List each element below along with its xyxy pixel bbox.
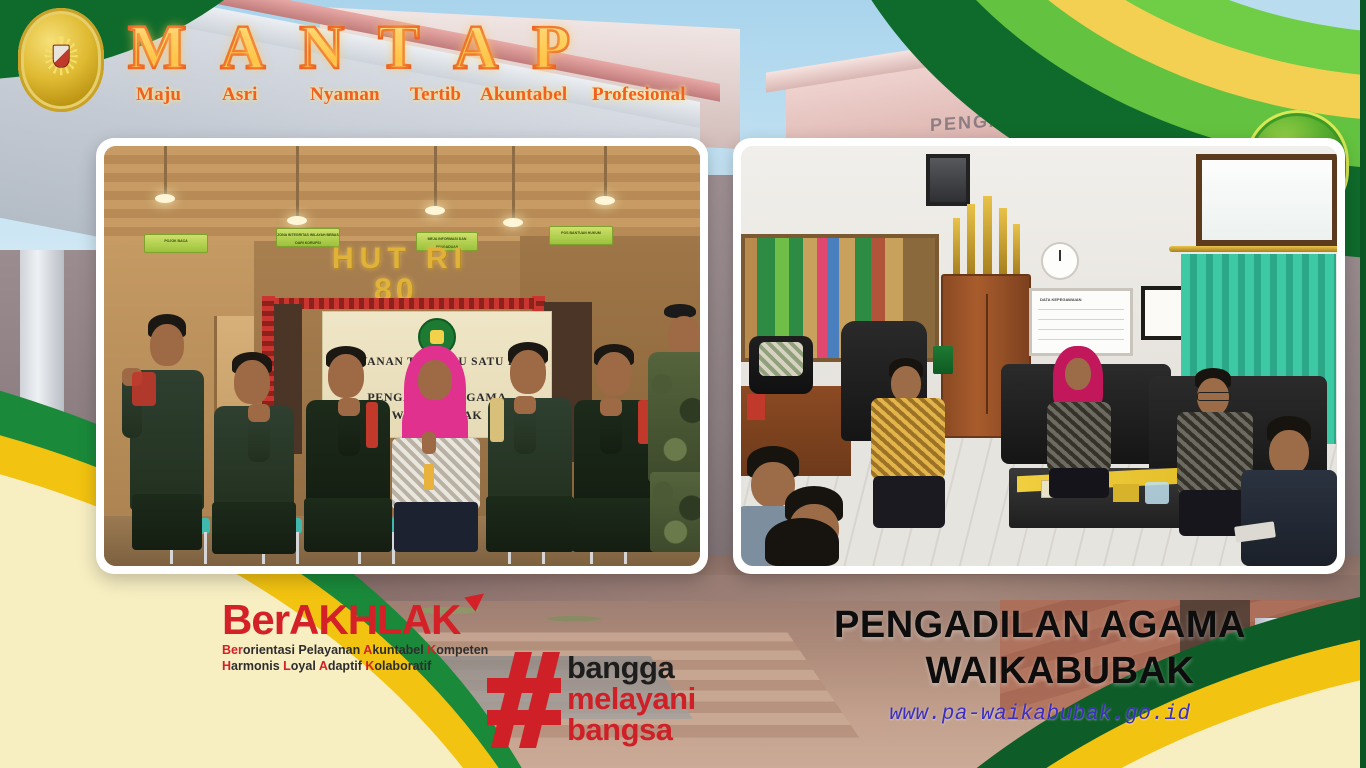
ceiling-sign-label: ZONA INTEGRITAS WILAYAH BEBAS DARI KORUP… (277, 229, 339, 247)
mantap-letter-m: M (128, 17, 187, 79)
mantap-letter-a1: A (221, 17, 266, 79)
person-guest-foreground (1241, 416, 1337, 566)
trophy (999, 208, 1007, 274)
bangga-melayani-bangsa-logo: bangga melayani bangsa (487, 652, 737, 748)
balloon-hut-ri: HUT RI (332, 242, 468, 276)
chair-cushion (759, 342, 803, 376)
bangga-words: bangga melayani bangsa (567, 652, 696, 748)
photo-ptsp-group: POJOK BACA ZONA INTEGRITAS WILAYAH BEBAS… (104, 146, 700, 566)
trophy (1013, 224, 1020, 274)
court-website-url[interactable]: www.pa-waikabubak.go.id (760, 703, 1320, 726)
office-window (1196, 154, 1337, 246)
mantap-letter-t: T (378, 17, 419, 79)
tagline-word-tertib: Tertib (410, 84, 480, 106)
water-bottles (1145, 482, 1169, 504)
court-name-line-2: WAIKABUBAK (760, 648, 1320, 694)
photo-office-meeting: DATA KEPEGAWAIAN (741, 146, 1337, 566)
ceiling-lamp (287, 216, 307, 225)
trophy (953, 218, 960, 274)
bangga-line-2: melayani (567, 683, 696, 714)
ceiling-lamp (425, 206, 445, 215)
person-soldier-camo (646, 304, 700, 552)
mantap-letter-n: N (299, 17, 344, 79)
ceiling-lamp (503, 218, 523, 227)
head (150, 324, 184, 366)
tagline-word-profesional: Profesional (592, 84, 686, 106)
ceiling-sign: POJOK BACA (144, 234, 208, 253)
berakhlak-text: BerAKHLAK (222, 596, 460, 643)
bangga-line-3: bangsa (567, 714, 696, 745)
bangga-line-1: bangga (567, 652, 696, 683)
wall-clock (1041, 242, 1079, 280)
photo-card-right[interactable]: DATA KEPEGAWAIAN (733, 138, 1345, 574)
president-portrait (926, 154, 970, 206)
mantap-letter-p: P (532, 17, 570, 79)
photo-card-left[interactable]: POJOK BACA ZONA INTEGRITAS WILAYAH BEBAS… (96, 138, 708, 574)
person-officer-2 (208, 352, 300, 552)
ribbon-top-right-sky (974, 0, 1366, 34)
berakhlak-values-line2: Harmonis Loyal Adaptif Kolaboratif (222, 659, 522, 675)
tagline-word-asri: Asri (222, 84, 310, 106)
tagline-word-nyaman: Nyaman (310, 84, 410, 106)
mahkamah-agung-logo (18, 8, 104, 112)
hashtag-icon (487, 652, 561, 748)
person-host-batik (867, 358, 953, 528)
ribbon-right-edge (1360, 0, 1366, 768)
berakhlak-values-line1: Berorientasi Pelayanan Akuntabel Kompete… (222, 643, 522, 659)
tagline-word-maju: Maju (136, 84, 222, 106)
tagline-word-akuntabel: Akuntabel (480, 84, 592, 106)
curtain-rod (1169, 246, 1337, 252)
berakhlak-values: Berorientasi Pelayanan Akuntabel Kompete… (222, 643, 522, 674)
batik-blouse (392, 438, 480, 510)
seal-shield (53, 44, 70, 67)
ceiling-lamp (155, 194, 175, 203)
court-name-line-1: PENGADILAN AGAMA (760, 602, 1320, 648)
ceiling-sign-label: POJOK BACA (145, 235, 207, 245)
berakhlak-logo: BerAKHLAK Berorientasi Pelayanan Akuntab… (222, 600, 522, 674)
person-ptsp-officer-female (386, 346, 486, 552)
ceiling-sign-label: POS BANTUAN HUKUM (550, 227, 612, 237)
ceiling-lamp (595, 196, 615, 205)
person-officer-3 (300, 346, 396, 552)
indonesia-flag (747, 394, 765, 420)
whiteboard-title: DATA KEPEGAWAIAN (1040, 297, 1081, 302)
court-identity-block: PENGADILAN AGAMA WAIKABUBAK www.pa-waika… (760, 602, 1320, 726)
person-officer-1 (122, 314, 214, 550)
person-guest-hijab (1041, 346, 1119, 496)
mantap-acronym: M A N T A P (128, 8, 778, 88)
trophy (967, 204, 975, 274)
person-officer-4 (480, 342, 580, 552)
person-back-3 (749, 518, 859, 566)
eyeglasses (1197, 392, 1231, 401)
berakhlak-wordmark: BerAKHLAK (222, 600, 460, 640)
ceiling-sign: ZONA INTEGRITAS WILAYAH BEBAS DARI KORUP… (276, 228, 340, 247)
trophy (983, 196, 992, 274)
mantap-tagline: Maju Asri Nyaman Tertib Akuntabel Profes… (136, 84, 776, 106)
framed-certificate (1141, 286, 1185, 340)
ceiling-sign: POS BANTUAN HUKUM (549, 226, 613, 245)
ribbon-top-right-yellow (906, 0, 1366, 122)
mantap-letter-a2: A (453, 17, 498, 79)
poster-canvas: PENGAD M A N T A P (0, 0, 1366, 768)
ribbon-top-right-lightgreen (940, 0, 1366, 78)
tinsel-top (274, 298, 536, 309)
